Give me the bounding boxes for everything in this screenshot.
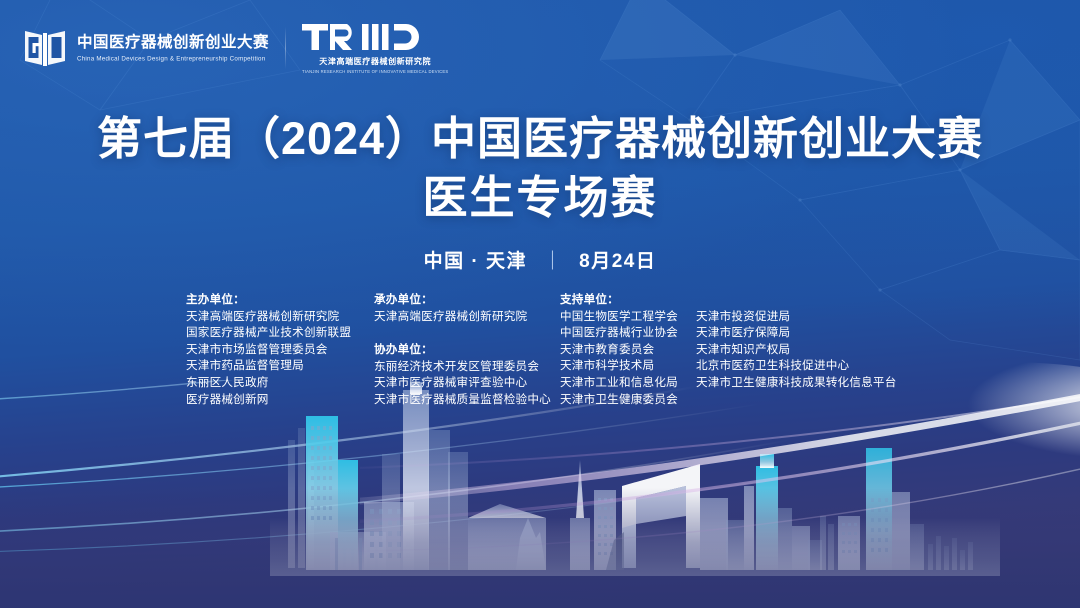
organizer-item: 东丽经济技术开发区管理委员会: [374, 359, 560, 376]
location-date-separator: ｜: [543, 246, 564, 273]
competition-logo-text: 中国医疗器械创新创业大赛 China Medical Devices Desig…: [77, 34, 269, 61]
organizer-item: 天津市卫生健康科技成果转化信息平台: [696, 375, 897, 392]
organizers-column-supporters-a: 支持单位： 中国生物医学工程学会 中国医疗器械行业协会 天津市教育委员会 天津市…: [560, 292, 696, 408]
group-title: 承办单位：: [374, 292, 560, 309]
organizer-item: 医疗器械创新网: [186, 392, 374, 409]
event-poster: 中国医疗器械创新创业大赛 China Medical Devices Desig…: [0, 0, 1080, 608]
organizers-column-undertaker: 承办单位： 天津高端医疗器械创新研究院 协办单位： 东丽经济技术开发区管理委员会…: [374, 292, 560, 409]
institute-logo: 天津高端医疗器械创新研究院 TIANJIN RESEARCH INSTITUTE…: [302, 22, 448, 74]
group-title: 支持单位：: [560, 292, 696, 309]
institute-logo-cn: 天津高端医疗器械创新研究院: [302, 56, 448, 67]
group-title: 主办单位：: [186, 292, 374, 309]
organizer-group: 主办单位： 天津高端医疗器械创新研究院 国家医疗器械产业技术创新联盟 天津市市场…: [186, 292, 374, 408]
organizer-item: 中国医疗器械行业协会: [560, 325, 696, 342]
event-date: 8月24日: [579, 251, 656, 272]
organizer-item: 北京市医药卫生科技促进中心: [696, 358, 897, 375]
organizer-item: 国家医疗器械产业技术创新联盟: [186, 325, 374, 342]
organizer-group: 天津市投资促进局 天津市医疗保障局 天津市知识产权局 北京市医药卫生科技促进中心…: [696, 292, 897, 392]
group-title: 协办单位：: [374, 342, 560, 359]
competition-logo-cn: 中国医疗器械创新创业大赛: [77, 34, 269, 51]
event-location: 中国 · 天津: [424, 251, 527, 272]
event-location-date: 中国 · 天津 ｜ 8月24日: [0, 246, 1080, 273]
organizer-item: 天津市药品监督管理局: [186, 358, 374, 375]
organizer-group: 协办单位： 东丽经济技术开发区管理委员会 天津市医疗器械审评查验中心 天津市医疗…: [374, 342, 560, 408]
organizer-item: 天津市知识产权局: [696, 342, 897, 359]
organizer-item: 天津高端医疗器械创新研究院: [374, 309, 560, 326]
organizer-item: 天津市医疗保障局: [696, 325, 897, 342]
column-alignment-spacer: [696, 292, 897, 309]
headline-block: 第七届（2024）中国医疗器械创新创业大赛 医生专场赛 中国 · 天津 ｜ 8月…: [0, 112, 1080, 273]
organizer-item: 天津市科学技术局: [560, 358, 696, 375]
logo-bar: 中国医疗器械创新创业大赛 China Medical Devices Desig…: [22, 22, 448, 74]
organizer-item: 天津市市场监督管理委员会: [186, 342, 374, 359]
organizers-column-host: 主办单位： 天津高端医疗器械创新研究院 国家医疗器械产业技术创新联盟 天津市市场…: [186, 292, 374, 408]
competition-logo-en: China Medical Devices Design & Entrepren…: [77, 55, 269, 62]
light-streaks: [0, 380, 1080, 608]
logo-divider: [285, 27, 286, 69]
organizer-item: 天津市投资促进局: [696, 309, 897, 326]
organizers-block: 主办单位： 天津高端医疗器械创新研究院 国家医疗器械产业技术创新联盟 天津市市场…: [186, 292, 897, 409]
triid-wordmark-icon: [302, 22, 448, 52]
organizers-column-supporters-b: 天津市投资促进局 天津市医疗保障局 天津市知识产权局 北京市医药卫生科技促进中心…: [696, 292, 897, 392]
organizer-item: 中国生物医学工程学会: [560, 309, 696, 326]
organizer-item: 天津市卫生健康委员会: [560, 392, 696, 409]
organizer-item: 天津市医疗器械审评查验中心: [374, 375, 560, 392]
organizer-item: 天津高端医疗器械创新研究院: [186, 309, 374, 326]
organizer-group: 支持单位： 中国生物医学工程学会 中国医疗器械行业协会 天津市教育委员会 天津市…: [560, 292, 696, 408]
organizer-group: 承办单位： 天津高端医疗器械创新研究院: [374, 292, 560, 325]
organizer-item: 天津市教育委员会: [560, 342, 696, 359]
institute-logo-en: TIANJIN RESEARCH INSTITUTE OF INNOVATIVE…: [302, 69, 448, 74]
ground-gradient: [0, 488, 1080, 608]
event-title-line1: 第七届（2024）中国医疗器械创新创业大赛: [0, 112, 1080, 165]
organizer-item: 天津市医疗器械质量监督检验中心: [374, 392, 560, 409]
organizer-item: 天津市工业和信息化局: [560, 375, 696, 392]
organizer-item: 东丽区人民政府: [186, 375, 374, 392]
event-title-line2: 医生专场赛: [0, 171, 1080, 224]
open-book-door-logo-icon: [22, 25, 68, 71]
